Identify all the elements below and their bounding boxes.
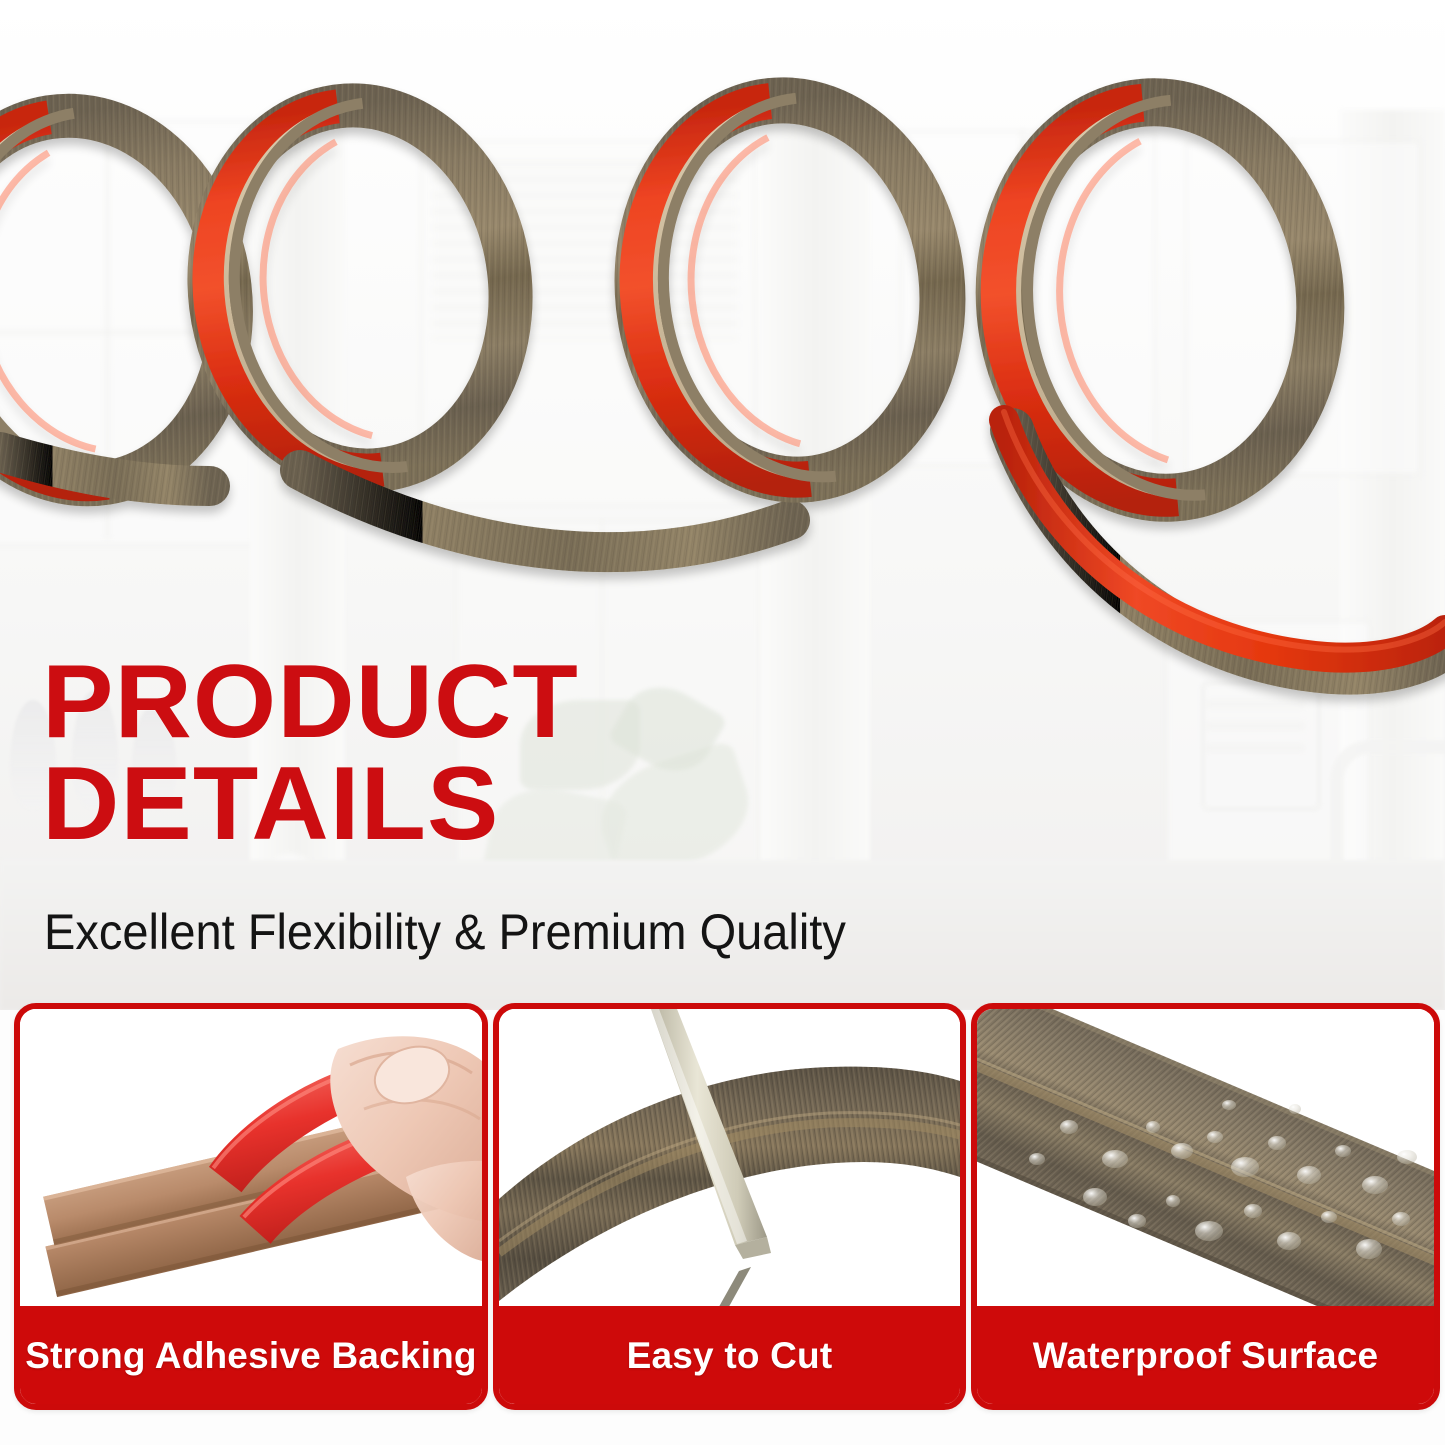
- photo-adhesive-backing: [20, 1009, 482, 1321]
- photo-easy-to-cut: [499, 1009, 960, 1321]
- hero-product-coils: [0, 0, 1445, 720]
- card-caption-easy-to-cut: Easy to Cut: [497, 1306, 962, 1406]
- card-caption-text: Waterproof Surface: [1033, 1335, 1379, 1377]
- feature-card-list: Strong Adhesive Backing: [0, 1003, 1445, 1413]
- feature-card-adhesive-backing[interactable]: Strong Adhesive Backing: [14, 1003, 488, 1410]
- page-title-line2: DETAILS: [42, 754, 579, 856]
- feature-card-easy-to-cut[interactable]: Easy to Cut: [493, 1003, 966, 1410]
- card-caption-text: Strong Adhesive Backing: [25, 1335, 476, 1377]
- card-caption-text: Easy to Cut: [627, 1335, 833, 1377]
- page-subtitle: Excellent Flexibility & Premium Quality: [44, 905, 846, 960]
- page-title-line1: PRODUCT: [42, 652, 579, 754]
- photo-waterproof-surface: [977, 1009, 1434, 1321]
- feature-card-waterproof-surface[interactable]: Waterproof Surface: [971, 1003, 1440, 1410]
- page-title: PRODUCT DETAILS: [42, 652, 563, 856]
- product-infographic: PRODUCT DETAILS Excellent Flexibility & …: [0, 0, 1445, 1445]
- card-caption-adhesive-backing: Strong Adhesive Backing: [18, 1306, 484, 1406]
- card-caption-waterproof-surface: Waterproof Surface: [975, 1306, 1436, 1406]
